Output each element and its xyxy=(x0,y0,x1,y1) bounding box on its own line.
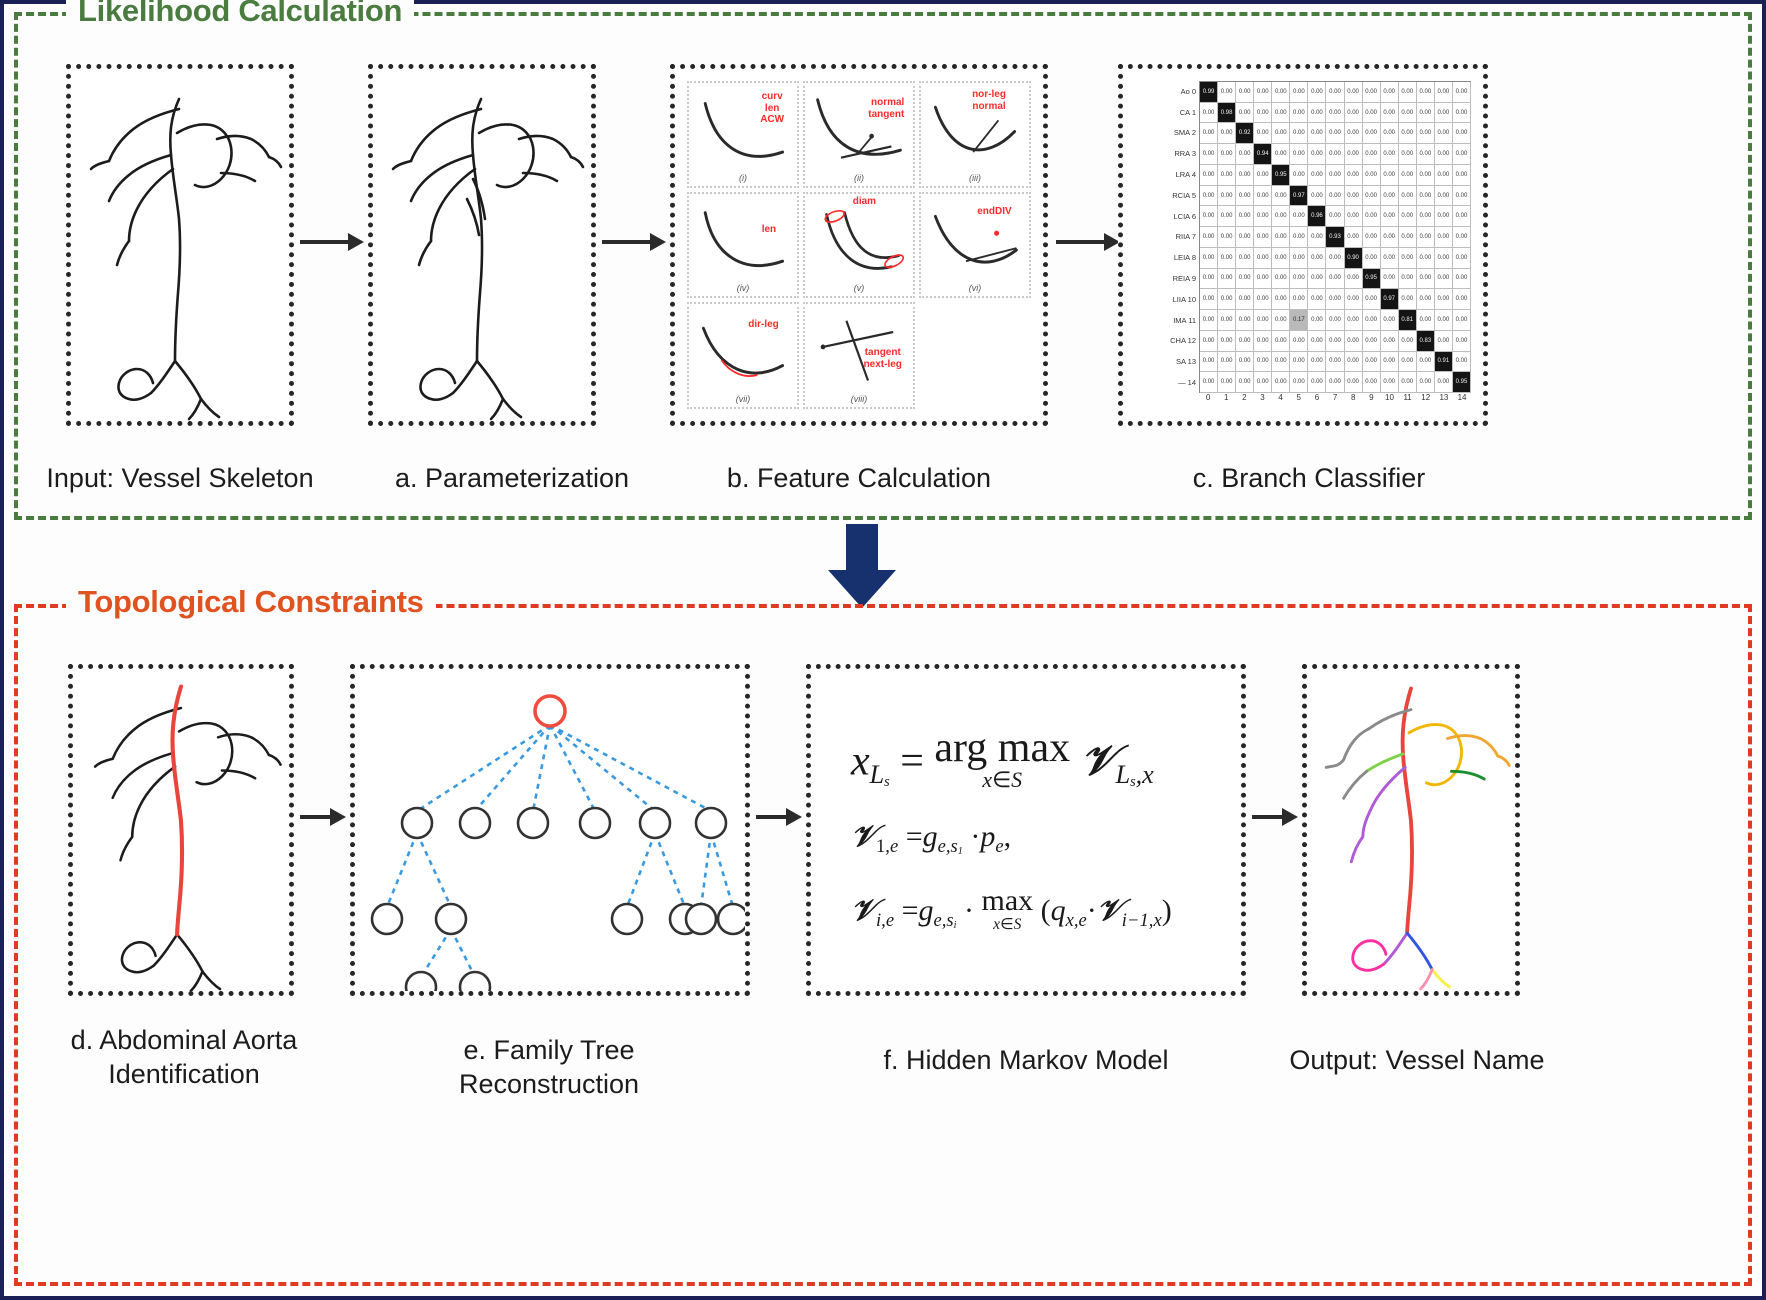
arrow-features-to-classifier xyxy=(1056,229,1120,255)
confusion-matrix-row-label: CHA 12 xyxy=(1137,331,1199,352)
hmm-equations: xLs = arg max x∈S 𝒱Ls,x 𝒱1,e =ge,s1 ·pe,… xyxy=(811,669,1241,991)
panel-feature-calculation: curv len ACW (i) normal tangent (ii) xyxy=(670,64,1048,426)
feature-sub-4: (iv) xyxy=(689,283,797,293)
confusion-matrix-cell: 0.00 xyxy=(1363,248,1381,269)
aorta-identification-drawing xyxy=(73,669,289,991)
confusion-matrix-cell: 0.00 xyxy=(1254,82,1272,103)
arrow-aorta-to-tree xyxy=(300,804,346,830)
feature-label-1: curv len ACW xyxy=(749,91,794,126)
caption-feature-calculation: b. Feature Calculation xyxy=(654,462,1064,496)
confusion-matrix-cell: 0.00 xyxy=(1381,144,1399,165)
confusion-matrix-cell: 0.00 xyxy=(1435,310,1453,331)
confusion-matrix-cell: 0.92 xyxy=(1236,123,1254,144)
confusion-matrix-row-label: LRA 4 xyxy=(1137,164,1199,185)
confusion-matrix-cell: 0.00 xyxy=(1236,310,1254,331)
confusion-matrix-cell: 0.00 xyxy=(1345,206,1363,227)
confusion-matrix-cell: 0.00 xyxy=(1417,206,1435,227)
confusion-matrix-cell: 0.00 xyxy=(1308,289,1326,310)
confusion-matrix-row-label: REIA 9 xyxy=(1137,268,1199,289)
confusion-matrix-cell: 0.00 xyxy=(1435,144,1453,165)
confusion-matrix-cell: 0.00 xyxy=(1435,269,1453,290)
caption-family-tree-reconstruction: e. Family Tree Reconstruction xyxy=(384,1034,714,1102)
panel-input-vessel-skeleton xyxy=(66,64,294,426)
confusion-matrix-cell: 0.00 xyxy=(1218,186,1236,207)
confusion-matrix-cell: 0.00 xyxy=(1363,227,1381,248)
confusion-matrix-cell: 0.00 xyxy=(1399,372,1417,393)
confusion-matrix-cell: 0.00 xyxy=(1453,186,1471,207)
confusion-matrix-cell: 0.00 xyxy=(1200,186,1218,207)
feature-sub-1: (i) xyxy=(689,173,797,183)
confusion-matrix-cell: 0.00 xyxy=(1345,165,1363,186)
confusion-matrix-cell: 0.00 xyxy=(1236,331,1254,352)
confusion-matrix-cell: 0.00 xyxy=(1345,144,1363,165)
confusion-matrix-cell: 0.00 xyxy=(1254,123,1272,144)
confusion-matrix-cell: 0.00 xyxy=(1345,289,1363,310)
feature-label-7: dir-leg xyxy=(734,319,792,331)
confusion-matrix-cell: 0.00 xyxy=(1399,123,1417,144)
confusion-matrix-cell: 0.00 xyxy=(1236,227,1254,248)
confusion-matrix-cell: 0.00 xyxy=(1345,103,1363,124)
confusion-matrix-cell: 0.00 xyxy=(1381,227,1399,248)
feature-label-5: diam xyxy=(837,196,891,208)
confusion-matrix-row-label: SA 13 xyxy=(1137,351,1199,372)
confusion-matrix-cell: 0.99 xyxy=(1200,82,1218,103)
confusion-matrix-cell: 0.00 xyxy=(1254,352,1272,373)
confusion-matrix-cell: 0.00 xyxy=(1363,123,1381,144)
arrow-tree-to-hmm xyxy=(756,804,802,830)
confusion-matrix-cell: 0.00 xyxy=(1345,372,1363,393)
confusion-matrix-cell: 0.00 xyxy=(1308,331,1326,352)
confusion-matrix-cell: 0.00 xyxy=(1453,82,1471,103)
confusion-matrix-row-label: RCIA 5 xyxy=(1137,185,1199,206)
confusion-matrix-cell: 0.00 xyxy=(1272,372,1290,393)
confusion-matrix-cell: 0.00 xyxy=(1453,269,1471,290)
confusion-matrix-cell: 0.00 xyxy=(1381,82,1399,103)
confusion-matrix-cell: 0.00 xyxy=(1236,186,1254,207)
confusion-matrix-cell: 0.00 xyxy=(1326,372,1344,393)
confusion-matrix-cell: 0.00 xyxy=(1381,352,1399,373)
confusion-matrix-cell: 0.00 xyxy=(1417,372,1435,393)
confusion-matrix-cell: 0.00 xyxy=(1417,352,1435,373)
confusion-matrix-cell: 0.00 xyxy=(1236,289,1254,310)
confusion-matrix-cell: 0.00 xyxy=(1417,248,1435,269)
confusion-matrix-cell: 0.00 xyxy=(1308,82,1326,103)
confusion-matrix-cell: 0.00 xyxy=(1399,144,1417,165)
confusion-matrix-cell: 0.00 xyxy=(1453,352,1471,373)
confusion-matrix-row-label: RIIA 7 xyxy=(1137,227,1199,248)
feature-label-4: len xyxy=(745,224,793,236)
confusion-matrix-cell: 0.00 xyxy=(1453,248,1471,269)
confusion-matrix-cell: 0.00 xyxy=(1254,331,1272,352)
caption-abdominal-aorta-identification: d. Abdominal Aorta Identification xyxy=(34,1024,334,1092)
confusion-matrix-cell: 0.00 xyxy=(1363,289,1381,310)
confusion-matrix-cell: 0.97 xyxy=(1290,186,1308,207)
feature-cell-6: endDIV (vi) xyxy=(919,192,1031,299)
confusion-matrix-column-label: 2 xyxy=(1235,393,1253,409)
confusion-matrix-cell: 0.00 xyxy=(1200,227,1218,248)
confusion-matrix-cell: 0.00 xyxy=(1200,165,1218,186)
confusion-matrix-cell: 0.83 xyxy=(1417,331,1435,352)
confusion-matrix-cell: 0.00 xyxy=(1236,103,1254,124)
confusion-matrix-cell: 0.00 xyxy=(1272,227,1290,248)
feature-sub-2: (ii) xyxy=(805,173,913,183)
confusion-matrix-cell: 0.00 xyxy=(1345,352,1363,373)
confusion-matrix-cell: 0.00 xyxy=(1200,289,1218,310)
confusion-matrix-cell: 0.00 xyxy=(1417,103,1435,124)
confusion-matrix-cell: 0.00 xyxy=(1254,227,1272,248)
confusion-matrix-cell: 0.00 xyxy=(1290,248,1308,269)
confusion-matrix-cell: 0.00 xyxy=(1363,206,1381,227)
feature-cell-7: dir-leg (vii) xyxy=(687,302,799,409)
confusion-matrix-cell: 0.00 xyxy=(1435,103,1453,124)
confusion-matrix-cell: 0.00 xyxy=(1326,331,1344,352)
caption-output-vessel-name: Output: Vessel Name xyxy=(1272,1044,1562,1078)
confusion-matrix-column-label: 14 xyxy=(1453,393,1471,409)
confusion-matrix-column-label: 8 xyxy=(1344,393,1362,409)
confusion-matrix-row-label: LEIA 8 xyxy=(1137,247,1199,268)
confusion-matrix-column-label: 11 xyxy=(1399,393,1417,409)
confusion-matrix-cell: 0.00 xyxy=(1399,82,1417,103)
confusion-matrix-cell: 0.00 xyxy=(1417,289,1435,310)
confusion-matrix-cell: 0.00 xyxy=(1399,206,1417,227)
confusion-matrix: Ao 0CA 1SMA 2RRA 3LRA 4RCIA 5LCIA 6RIIA … xyxy=(1137,81,1471,409)
confusion-matrix-cell: 0.00 xyxy=(1453,123,1471,144)
confusion-matrix-row-label: CA 1 xyxy=(1137,102,1199,123)
confusion-matrix-cell: 0.00 xyxy=(1218,123,1236,144)
confusion-matrix-cell: 0.00 xyxy=(1218,372,1236,393)
confusion-matrix-cell: 0.00 xyxy=(1290,331,1308,352)
confusion-matrix-cell: 0.00 xyxy=(1399,352,1417,373)
confusion-matrix-cell: 0.00 xyxy=(1381,123,1399,144)
feature-label-3: nor-leg normal xyxy=(953,89,1024,112)
feature-sub-6: (vi) xyxy=(921,283,1029,293)
confusion-matrix-cell: 0.00 xyxy=(1326,206,1344,227)
aorta-highlight xyxy=(172,687,182,935)
confusion-matrix-cell: 0.00 xyxy=(1435,372,1453,393)
confusion-matrix-cell: 0.00 xyxy=(1435,123,1453,144)
confusion-matrix-column-label: 6 xyxy=(1308,393,1326,409)
confusion-matrix-cell: 0.00 xyxy=(1254,310,1272,331)
confusion-matrix-cell: 0.00 xyxy=(1363,186,1381,207)
confusion-matrix-cell: 0.00 xyxy=(1236,372,1254,393)
confusion-matrix-cell: 0.00 xyxy=(1236,144,1254,165)
confusion-matrix-cell: 0.00 xyxy=(1236,352,1254,373)
confusion-matrix-cell: 0.00 xyxy=(1290,123,1308,144)
confusion-matrix-cell: 0.00 xyxy=(1218,269,1236,290)
confusion-matrix-cell: 0.00 xyxy=(1363,165,1381,186)
confusion-matrix-cell: 0.00 xyxy=(1381,372,1399,393)
confusion-matrix-column-label: 5 xyxy=(1290,393,1308,409)
confusion-matrix-cell: 0.00 xyxy=(1290,165,1308,186)
confusion-matrix-cell: 0.95 xyxy=(1272,165,1290,186)
confusion-matrix-cell: 0.00 xyxy=(1435,186,1453,207)
hmm-equation-1: xLs = arg max x∈S 𝒱Ls,x xyxy=(851,727,1201,792)
confusion-matrix-cell: 0.00 xyxy=(1236,165,1254,186)
confusion-matrix-cell: 0.00 xyxy=(1417,269,1435,290)
feature-cell-2: normal tangent (ii) xyxy=(803,81,915,188)
confusion-matrix-cell: 0.00 xyxy=(1272,269,1290,290)
confusion-matrix-cell: 0.00 xyxy=(1200,123,1218,144)
confusion-matrix-cell: 0.00 xyxy=(1218,248,1236,269)
confusion-matrix-row-label: Ao 0 xyxy=(1137,81,1199,102)
confusion-matrix-cell: 0.00 xyxy=(1272,206,1290,227)
confusion-matrix-cell: 0.00 xyxy=(1326,165,1344,186)
confusion-matrix-cell: 0.00 xyxy=(1453,310,1471,331)
confusion-matrix-cell: 0.00 xyxy=(1399,248,1417,269)
confusion-matrix-cell: 0.00 xyxy=(1308,352,1326,373)
feature-cell-9 xyxy=(919,302,1031,409)
confusion-matrix-column-label: 3 xyxy=(1253,393,1271,409)
confusion-matrix-cell: 0.00 xyxy=(1290,227,1308,248)
panel-output-vessel-name xyxy=(1302,664,1520,996)
confusion-matrix-cell: 0.00 xyxy=(1200,248,1218,269)
confusion-matrix-cell: 0.00 xyxy=(1345,123,1363,144)
confusion-matrix-cell: 0.00 xyxy=(1272,123,1290,144)
confusion-matrix-cell: 0.00 xyxy=(1399,165,1417,186)
feature-sub-8: (viii) xyxy=(805,394,913,404)
feature-label-8: tangent next-leg xyxy=(855,347,911,370)
confusion-matrix-cell: 0.00 xyxy=(1254,248,1272,269)
confusion-matrix-cell: 0.00 xyxy=(1236,82,1254,103)
confusion-matrix-cell: 0.95 xyxy=(1363,269,1381,290)
confusion-matrix-cell: 0.00 xyxy=(1435,227,1453,248)
confusion-matrix-cell: 0.91 xyxy=(1435,352,1453,373)
confusion-matrix-cell: 0.00 xyxy=(1218,352,1236,373)
confusion-matrix-cell: 0.00 xyxy=(1272,103,1290,124)
confusion-matrix-row-label: LIIA 10 xyxy=(1137,289,1199,310)
confusion-matrix-cell: 0.00 xyxy=(1308,186,1326,207)
confusion-matrix-cell: 0.00 xyxy=(1218,82,1236,103)
confusion-matrix-cell: 0.00 xyxy=(1435,206,1453,227)
confusion-matrix-cell: 0.00 xyxy=(1363,103,1381,124)
confusion-matrix-cell: 0.00 xyxy=(1200,372,1218,393)
confusion-matrix-cell: 0.81 xyxy=(1399,310,1417,331)
confusion-matrix-cell: 0.00 xyxy=(1345,310,1363,331)
confusion-matrix-cell: 0.00 xyxy=(1363,372,1381,393)
confusion-matrix-cell: 0.00 xyxy=(1308,144,1326,165)
panel-family-tree-reconstruction xyxy=(350,664,750,996)
confusion-matrix-cell: 0.00 xyxy=(1417,82,1435,103)
confusion-matrix-column-label: 12 xyxy=(1417,393,1435,409)
hmm-equation-3: 𝒱i,e =ge,si · max x∈S (qx,e·𝒱i−1,x) xyxy=(851,886,1201,933)
feature-sub-5: (v) xyxy=(805,283,913,293)
confusion-matrix-cell: 0.00 xyxy=(1381,186,1399,207)
feature-grid: curv len ACW (i) normal tangent (ii) xyxy=(687,81,1031,409)
hmm-equation-2: 𝒱1,e =ge,s1 ·pe, xyxy=(851,820,1201,858)
confusion-matrix-cell: 0.00 xyxy=(1272,248,1290,269)
confusion-matrix-cell: 0.00 xyxy=(1453,206,1471,227)
confusion-matrix-cell: 0.17 xyxy=(1290,310,1308,331)
caption-parameterization: a. Parameterization xyxy=(362,462,662,496)
confusion-matrix-cell: 0.00 xyxy=(1326,248,1344,269)
confusion-matrix-cell: 0.00 xyxy=(1200,144,1218,165)
confusion-matrix-cell: 0.00 xyxy=(1417,123,1435,144)
confusion-matrix-cell: 0.00 xyxy=(1345,227,1363,248)
confusion-matrix-cell: 0.00 xyxy=(1308,372,1326,393)
confusion-matrix-cell: 0.00 xyxy=(1308,123,1326,144)
confusion-matrix-cell: 0.00 xyxy=(1345,331,1363,352)
confusion-matrix-cell: 0.00 xyxy=(1381,248,1399,269)
feature-cell-8: tangent next-leg (viii) xyxy=(803,302,915,409)
confusion-matrix-cell: 0.00 xyxy=(1326,186,1344,207)
confusion-matrix-cell: 0.00 xyxy=(1453,144,1471,165)
confusion-matrix-cell: 0.00 xyxy=(1381,103,1399,124)
confusion-matrix-row-labels: Ao 0CA 1SMA 2RRA 3LRA 4RCIA 5LCIA 6RIIA … xyxy=(1137,81,1199,393)
confusion-matrix-cell: 0.00 xyxy=(1290,103,1308,124)
arrow-section-transition xyxy=(822,524,902,608)
labeled-vessel-drawing xyxy=(1307,669,1515,991)
confusion-matrix-cell: 0.00 xyxy=(1308,248,1326,269)
feature-cell-4: len (iv) xyxy=(687,192,799,299)
confusion-matrix-cell: 0.00 xyxy=(1254,186,1272,207)
confusion-matrix-cell: 0.00 xyxy=(1345,269,1363,290)
confusion-matrix-column-label: 1 xyxy=(1217,393,1235,409)
confusion-matrix-cell: 0.00 xyxy=(1272,310,1290,331)
confusion-matrix-cell: 0.00 xyxy=(1200,269,1218,290)
confusion-matrix-row-label: — 14 xyxy=(1137,372,1199,393)
confusion-matrix-cell: 0.00 xyxy=(1399,331,1417,352)
confusion-matrix-cell: 0.00 xyxy=(1435,331,1453,352)
confusion-matrix-cell: 0.00 xyxy=(1417,165,1435,186)
confusion-matrix-cell: 0.00 xyxy=(1326,269,1344,290)
confusion-matrix-cell: 0.00 xyxy=(1200,310,1218,331)
confusion-matrix-cell: 0.00 xyxy=(1381,269,1399,290)
confusion-matrix-column-label: 10 xyxy=(1380,393,1398,409)
confusion-matrix-cell: 0.00 xyxy=(1200,206,1218,227)
confusion-matrix-cell: 0.00 xyxy=(1290,289,1308,310)
confusion-matrix-cell: 0.00 xyxy=(1308,269,1326,290)
confusion-matrix-body: Ao 0CA 1SMA 2RRA 3LRA 4RCIA 5LCIA 6RIIA … xyxy=(1137,81,1471,393)
panel-branch-classifier: Ao 0CA 1SMA 2RRA 3LRA 4RCIA 5LCIA 6RIIA … xyxy=(1118,64,1488,426)
confusion-matrix-cell: 0.00 xyxy=(1200,103,1218,124)
arrow-parameterization-to-features xyxy=(602,229,666,255)
confusion-matrix-cell: 0.00 xyxy=(1290,206,1308,227)
confusion-matrix-cell: 0.97 xyxy=(1381,289,1399,310)
confusion-matrix-cell: 0.00 xyxy=(1218,310,1236,331)
confusion-matrix-cell: 0.00 xyxy=(1435,165,1453,186)
confusion-matrix-row-label: IMA 11 xyxy=(1137,310,1199,331)
confusion-matrix-cell: 0.00 xyxy=(1381,206,1399,227)
confusion-matrix-row-label: SMA 2 xyxy=(1137,123,1199,144)
confusion-matrix-cell: 0.00 xyxy=(1326,144,1344,165)
panel-abdominal-aorta-identification xyxy=(68,664,294,996)
confusion-matrix-column-label: 7 xyxy=(1326,393,1344,409)
confusion-matrix-cell: 0.00 xyxy=(1345,186,1363,207)
confusion-matrix-cell: 0.00 xyxy=(1290,372,1308,393)
confusion-matrix-cell: 0.00 xyxy=(1254,269,1272,290)
confusion-matrix-cell: 0.00 xyxy=(1435,248,1453,269)
confusion-matrix-cell: 0.00 xyxy=(1254,372,1272,393)
confusion-matrix-cell: 0.00 xyxy=(1363,144,1381,165)
confusion-matrix-cell: 0.00 xyxy=(1218,206,1236,227)
confusion-matrix-cell: 0.00 xyxy=(1326,289,1344,310)
confusion-matrix-grid: 0.990.000.000.000.000.000.000.000.000.00… xyxy=(1199,81,1471,393)
confusion-matrix-cell: 0.00 xyxy=(1218,331,1236,352)
confusion-matrix-cell: 0.00 xyxy=(1254,289,1272,310)
confusion-matrix-cell: 0.00 xyxy=(1399,289,1417,310)
feature-label-6: endDIV xyxy=(964,206,1024,218)
confusion-matrix-row-label: LCIA 6 xyxy=(1137,206,1199,227)
confusion-matrix-cell: 0.00 xyxy=(1254,165,1272,186)
confusion-matrix-cell: 0.00 xyxy=(1308,165,1326,186)
confusion-matrix-cell: 0.00 xyxy=(1399,269,1417,290)
caption-hidden-markov-model: f. Hidden Markov Model xyxy=(804,1044,1248,1078)
confusion-matrix-cell: 0.00 xyxy=(1326,103,1344,124)
confusion-matrix-cell: 0.00 xyxy=(1218,289,1236,310)
confusion-matrix-cell: 0.96 xyxy=(1308,206,1326,227)
confusion-matrix-cell: 0.00 xyxy=(1290,144,1308,165)
confusion-matrix-column-label: 13 xyxy=(1435,393,1453,409)
confusion-matrix-cell: 0.00 xyxy=(1453,289,1471,310)
parameterization-drawing xyxy=(373,69,591,421)
confusion-matrix-cell: 0.00 xyxy=(1326,352,1344,373)
confusion-matrix-cell: 0.00 xyxy=(1290,269,1308,290)
confusion-matrix-cell: 0.00 xyxy=(1272,331,1290,352)
confusion-matrix-cell: 0.00 xyxy=(1326,123,1344,144)
confusion-matrix-cell: 0.00 xyxy=(1272,144,1290,165)
feature-sub-3: (iii) xyxy=(921,173,1029,183)
confusion-matrix-cell: 0.00 xyxy=(1218,165,1236,186)
confusion-matrix-cell: 0.00 xyxy=(1417,144,1435,165)
confusion-matrix-cell: 0.93 xyxy=(1326,227,1344,248)
confusion-matrix-cell: 0.00 xyxy=(1453,103,1471,124)
caption-input-vessel-skeleton: Input: Vessel Skeleton xyxy=(20,462,340,496)
confusion-matrix-cell: 0.00 xyxy=(1218,144,1236,165)
confusion-matrix-cell: 0.00 xyxy=(1345,82,1363,103)
confusion-matrix-cell: 0.00 xyxy=(1417,186,1435,207)
confusion-matrix-cell: 0.00 xyxy=(1381,165,1399,186)
confusion-matrix-cell: 0.00 xyxy=(1435,289,1453,310)
confusion-matrix-cell: 0.00 xyxy=(1272,186,1290,207)
confusion-matrix-cell: 0.00 xyxy=(1236,269,1254,290)
family-tree-diagram xyxy=(355,669,745,991)
confusion-matrix-cell: 0.00 xyxy=(1363,352,1381,373)
confusion-matrix-cell: 0.00 xyxy=(1236,206,1254,227)
confusion-matrix-column-label: 9 xyxy=(1362,393,1380,409)
confusion-matrix-cell: 0.00 xyxy=(1218,227,1236,248)
section-title-topological: Topological Constraints xyxy=(66,584,436,620)
confusion-matrix-cell: 0.00 xyxy=(1453,227,1471,248)
arrow-hmm-to-output xyxy=(1252,804,1298,830)
confusion-matrix-column-label: 4 xyxy=(1272,393,1290,409)
confusion-matrix-cell: 0.00 xyxy=(1290,352,1308,373)
confusion-matrix-row-label: RRA 3 xyxy=(1137,143,1199,164)
confusion-matrix-cell: 0.00 xyxy=(1200,331,1218,352)
confusion-matrix-cell: 0.00 xyxy=(1363,82,1381,103)
confusion-matrix-cell: 0.98 xyxy=(1218,103,1236,124)
confusion-matrix-cell: 0.94 xyxy=(1254,144,1272,165)
panel-hidden-markov-model: xLs = arg max x∈S 𝒱Ls,x 𝒱1,e =ge,s1 ·pe,… xyxy=(806,664,1246,996)
confusion-matrix-cell: 0.95 xyxy=(1453,372,1471,393)
confusion-matrix-cell: 0.00 xyxy=(1435,82,1453,103)
confusion-matrix-cell: 0.90 xyxy=(1345,248,1363,269)
caption-branch-classifier: c. Branch Classifier xyxy=(1124,462,1494,496)
confusion-matrix-cell: 0.00 xyxy=(1417,310,1435,331)
confusion-matrix-cell: 0.00 xyxy=(1399,103,1417,124)
panel-parameterization xyxy=(368,64,596,426)
confusion-matrix-column-labels: 01234567891011121314 xyxy=(1199,393,1471,409)
confusion-matrix-cell: 0.00 xyxy=(1308,103,1326,124)
confusion-matrix-cell: 0.00 xyxy=(1399,227,1417,248)
confusion-matrix-cell: 0.00 xyxy=(1254,103,1272,124)
confusion-matrix-cell: 0.00 xyxy=(1272,352,1290,373)
confusion-matrix-column-label: 0 xyxy=(1199,393,1217,409)
confusion-matrix-cell: 0.00 xyxy=(1200,352,1218,373)
confusion-matrix-cell: 0.00 xyxy=(1363,310,1381,331)
figure-root: Likelihood Calculation Inp xyxy=(0,0,1766,1300)
confusion-matrix-cell: 0.00 xyxy=(1290,82,1308,103)
feature-cell-1: curv len ACW (i) xyxy=(687,81,799,188)
